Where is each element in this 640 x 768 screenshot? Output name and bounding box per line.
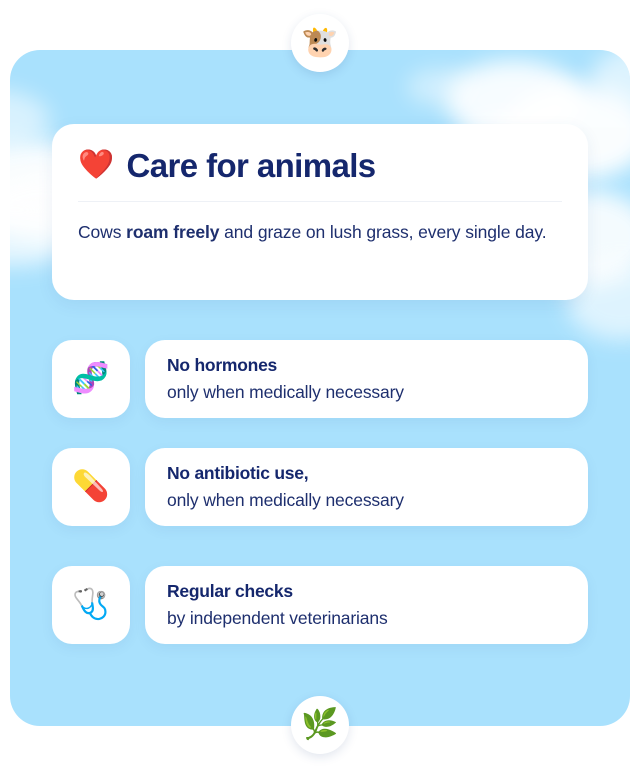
red-heart-icon: ❤️ xyxy=(78,151,114,180)
pill-icon-tile: 💊 xyxy=(52,448,130,526)
feature-row: 🩺 Regular checks by independent veterina… xyxy=(52,566,588,644)
hero-card: ❤️ Care for animals Cows roam freely and… xyxy=(52,124,588,300)
page-stage: 🐮 🌿 ❤️ Care for animals Cows roam freely… xyxy=(0,0,640,768)
hero-body-part-1: Cows xyxy=(78,222,126,242)
hero-divider xyxy=(78,201,562,202)
feature-title: Regular checks xyxy=(167,580,566,604)
cow-face-badge: 🐮 xyxy=(291,14,349,72)
stethoscope-icon: 🩺 xyxy=(72,590,109,620)
page-title-text: Care for animals xyxy=(127,148,376,184)
cow-face-icon: 🐮 xyxy=(301,28,338,58)
pill-icon: 💊 xyxy=(72,472,109,502)
hero-body-text: Cows roam freely and graze on lush grass… xyxy=(78,219,562,246)
feature-subtitle: by independent veterinarians xyxy=(167,606,566,631)
feature-text-card: No hormones only when medically necessar… xyxy=(145,340,588,418)
feature-text-card: Regular checks by independent veterinari… xyxy=(145,566,588,644)
feature-title: No hormones xyxy=(167,354,566,378)
dna-icon-tile: 🧬 xyxy=(52,340,130,418)
hero-body-emphasis: roam freely xyxy=(126,222,219,242)
page-title: ❤️ Care for animals xyxy=(78,148,562,184)
feature-subtitle: only when medically necessary xyxy=(167,488,566,513)
content-column: ❤️ Care for animals Cows roam freely and… xyxy=(0,0,640,768)
stethoscope-icon-tile: 🩺 xyxy=(52,566,130,644)
herb-leaf-badge: 🌿 xyxy=(291,696,349,754)
feature-row: 💊 No antibiotic use, only when medically… xyxy=(52,448,588,526)
feature-title: No antibiotic use, xyxy=(167,462,566,486)
hero-body-part-2: and graze on lush grass, every single da… xyxy=(219,222,546,242)
feature-row: 🧬 No hormones only when medically necess… xyxy=(52,340,588,418)
feature-text-card: No antibiotic use, only when medically n… xyxy=(145,448,588,526)
feature-subtitle: only when medically necessary xyxy=(167,380,566,405)
dna-icon: 🧬 xyxy=(72,364,109,394)
herb-leaf-icon: 🌿 xyxy=(301,710,338,740)
